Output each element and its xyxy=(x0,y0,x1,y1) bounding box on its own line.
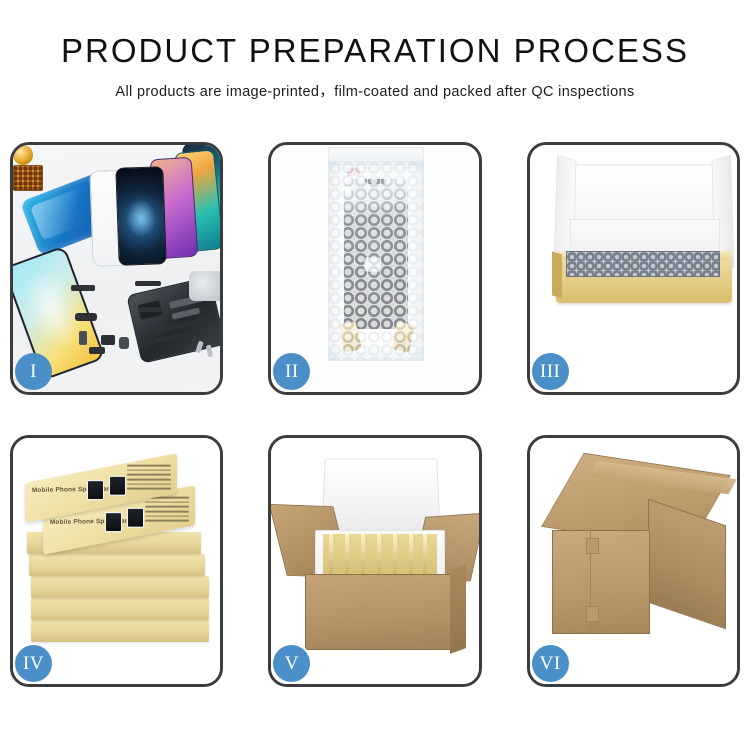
box-spec-lines-top xyxy=(127,464,171,492)
chip-grid-part xyxy=(13,165,43,191)
tool-set xyxy=(189,271,220,301)
carton-side-face xyxy=(648,498,726,629)
small-part-camera xyxy=(119,337,129,349)
small-part-bracket xyxy=(75,313,97,321)
yellow-boxes-inside xyxy=(323,534,437,574)
photo-assorted-phones-and-parts xyxy=(13,145,220,392)
small-part-button xyxy=(79,331,87,345)
box-spec-lines-front xyxy=(145,496,189,524)
bubble-wrap-bag xyxy=(328,161,424,361)
photo-lcd-in-bubble-wrap xyxy=(271,145,478,392)
box-thumb-top-1 xyxy=(87,480,104,500)
photo-stacked-spare-parts-boxes: Mobile Phone Spare Parts Mobile Phone Sp… xyxy=(13,438,220,685)
carton-front-face xyxy=(552,530,650,634)
step-badge-6: VI xyxy=(532,645,569,682)
step-badge-4: IV xyxy=(15,645,52,682)
stacked-box-bottom-3 xyxy=(31,576,209,598)
step-badge-3: III xyxy=(532,353,569,390)
process-step-panel-3[interactable]: III xyxy=(527,142,740,395)
box-thumb-front-2 xyxy=(127,507,144,527)
carton-label-lower xyxy=(586,606,599,622)
step-badge-1: I xyxy=(15,353,52,390)
flex-cable-2 xyxy=(139,307,161,312)
stacked-box-bottom-2 xyxy=(31,598,209,620)
page-subtitle: All products are image-printed，film-coat… xyxy=(0,80,750,101)
photo-sealed-shipping-carton xyxy=(530,438,737,685)
small-part-clip xyxy=(101,335,115,345)
photo-open-kraft-tray-box xyxy=(530,145,737,392)
speaker-module xyxy=(13,145,33,165)
process-step-panel-5[interactable]: V xyxy=(268,435,481,688)
step-badge-2: II xyxy=(273,353,310,390)
carton-label-upper xyxy=(586,538,599,554)
page-title: PRODUCT PREPARATION PROCESS xyxy=(0,34,750,69)
box-thumb-top-2 xyxy=(109,475,126,495)
stacked-box-bottom-1 xyxy=(31,620,209,642)
process-step-panel-6[interactable]: VI xyxy=(527,435,740,688)
carton-body xyxy=(305,574,453,650)
flex-cable-1 xyxy=(135,281,161,286)
process-step-panel-2[interactable]: II xyxy=(268,142,481,395)
process-step-panel-1[interactable]: I xyxy=(10,142,223,395)
small-part-shield xyxy=(89,347,105,354)
small-part-strip xyxy=(71,285,95,291)
phone-dark-screen xyxy=(115,166,166,266)
box-tray-left-side xyxy=(552,251,562,298)
stacked-box-bottom-4 xyxy=(29,554,205,576)
page-header: PRODUCT PREPARATION PROCESS All products… xyxy=(0,0,750,101)
photo-carton-with-foam-and-boxes xyxy=(271,438,478,685)
box-thumb-front-1 xyxy=(105,512,122,532)
bubble-wrapped-contents xyxy=(566,251,720,277)
process-step-panel-4[interactable]: Mobile Phone Spare Parts Mobile Phone Sp… xyxy=(10,435,223,688)
process-step-grid: I II III xyxy=(10,142,740,687)
